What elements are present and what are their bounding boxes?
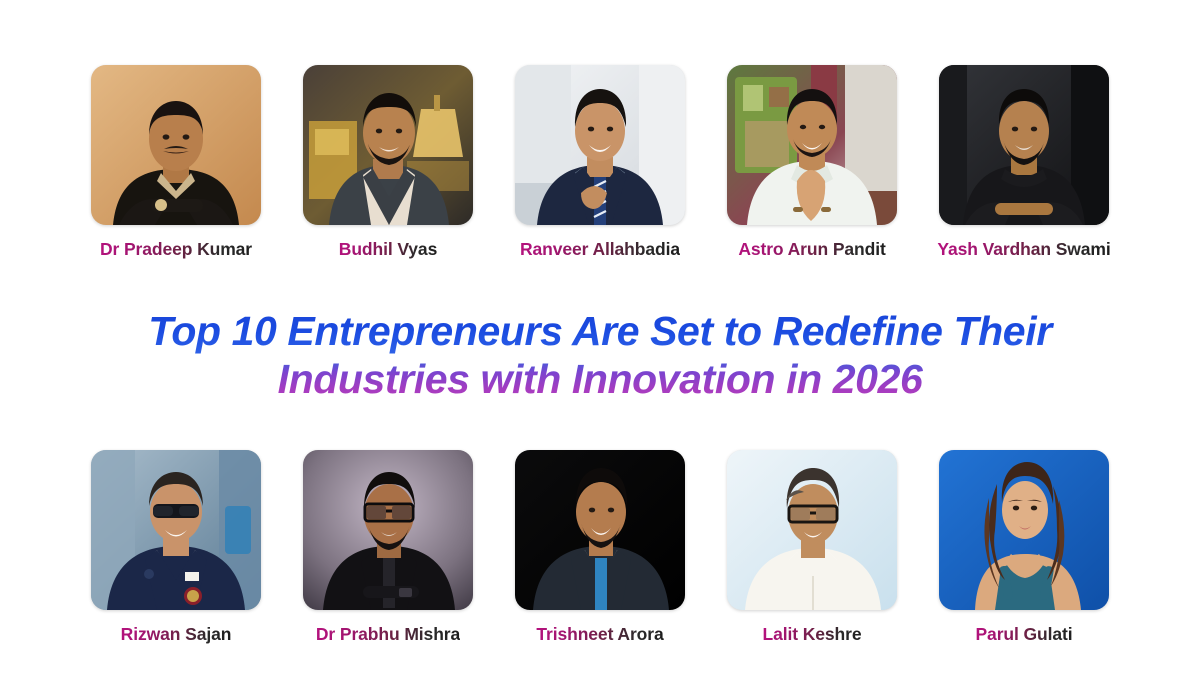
top-people-row: Dr Pradeep Kumar xyxy=(0,65,1200,260)
person-photo xyxy=(91,450,261,610)
headline: Top 10 Entrepreneurs Are Set to Redefine… xyxy=(0,308,1200,403)
person-photo xyxy=(303,450,473,610)
person-photo xyxy=(91,65,261,225)
person-name: Dr Prabhu Mishra xyxy=(316,624,460,645)
bottom-people-row: Rizwan Sajan xyxy=(0,450,1200,645)
person-name: Rizwan Sajan xyxy=(121,624,232,645)
person-name: Parul Gulati xyxy=(975,624,1072,645)
poster-root: Dr Pradeep Kumar xyxy=(0,0,1200,675)
person-card[interactable]: Trishneet Arora xyxy=(515,450,685,645)
person-card[interactable]: Lalit Keshre xyxy=(727,450,897,645)
person-card[interactable]: Dr Pradeep Kumar xyxy=(91,65,261,260)
person-name: Ranveer Allahbadia xyxy=(520,239,680,260)
person-card[interactable]: Ranveer Allahbadia xyxy=(515,65,685,260)
person-name: Dr Pradeep Kumar xyxy=(100,239,252,260)
person-photo xyxy=(939,65,1109,225)
person-photo xyxy=(727,450,897,610)
person-photo xyxy=(727,65,897,225)
person-card[interactable]: Budhil Vyas xyxy=(303,65,473,260)
person-card[interactable]: Astro Arun Pandit xyxy=(727,65,897,260)
person-photo xyxy=(303,65,473,225)
person-card[interactable]: Parul Gulati xyxy=(939,450,1109,645)
person-card[interactable]: Yash Vardhan Swami xyxy=(939,65,1109,260)
person-photo xyxy=(515,450,685,610)
person-card[interactable]: Rizwan Sajan xyxy=(91,450,261,645)
person-name: Lalit Keshre xyxy=(763,624,862,645)
person-name: Trishneet Arora xyxy=(536,624,663,645)
person-name: Yash Vardhan Swami xyxy=(937,239,1110,260)
headline-line-1: Top 10 Entrepreneurs Are Set to Redefine… xyxy=(24,308,1176,356)
person-card[interactable]: Dr Prabhu Mishra xyxy=(303,450,473,645)
person-photo xyxy=(515,65,685,225)
person-name: Budhil Vyas xyxy=(339,239,437,260)
person-photo xyxy=(939,450,1109,610)
headline-line-2: Industries with Innovation in 2026 xyxy=(24,356,1176,404)
person-name: Astro Arun Pandit xyxy=(738,239,885,260)
